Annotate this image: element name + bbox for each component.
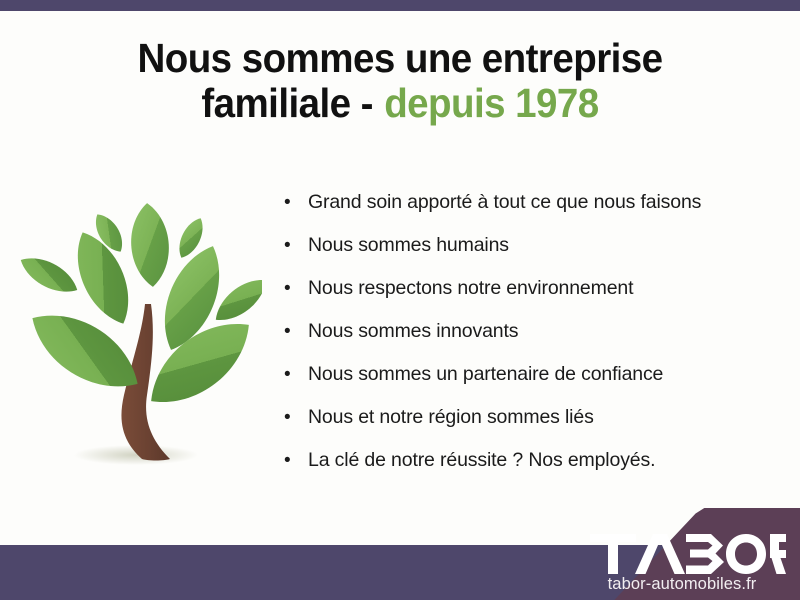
bullet-marker-icon: • [284,408,308,427]
bullet-marker-icon: • [284,322,308,341]
bullet-marker-icon: • [284,451,308,470]
list-item: • Nous sommes innovants [284,320,764,363]
list-item-label: Nous et notre région sommes liés [308,406,594,429]
headline-line-2: familiale -depuis 1978 [24,81,776,126]
bullet-marker-icon: • [284,365,308,384]
brand-url[interactable]: tabor-automobiles.fr [580,575,786,594]
tree-svg [14,183,262,483]
list-item: • Nous et notre région sommes liés [284,406,764,449]
list-item: • Nous respectons notre environnement [284,277,764,320]
list-item-label: La clé de notre réussite ? Nos employés. [308,449,655,472]
list-item: • Nous sommes un partenaire de confiance [284,363,764,406]
page-title: Nous sommes une entreprise familiale -de… [24,36,776,126]
list-item: • Nous sommes humains [284,234,764,277]
list-item-label: Nous respectons notre environnement [308,277,633,300]
bullet-marker-icon: • [284,279,308,298]
headline-line-2-black: familiale - [201,80,373,126]
tree-illustration [14,183,262,483]
bullet-marker-icon: • [284,236,308,255]
list-item-label: Grand soin apporté à tout ce que nous fa… [308,191,701,214]
bullet-marker-icon: • [284,193,308,212]
list-item-label: Nous sommes innovants [308,320,518,343]
brand-logo[interactable]: tabor-automobiles.fr [580,534,786,594]
headline-line-2-accent: depuis 1978 [384,80,598,126]
list-item: • Grand soin apporté à tout ce que nous … [284,191,764,234]
tabor-wordmark-icon [590,534,786,574]
headline-line-1: Nous sommes une entreprise [24,36,776,81]
list-item-label: Nous sommes un partenaire de confiance [308,363,663,386]
top-brand-bar [0,0,800,11]
list-item-label: Nous sommes humains [308,234,509,257]
slide-canvas: Nous sommes une entreprise familiale -de… [0,0,800,600]
list-item: • La clé de notre réussite ? Nos employé… [284,449,764,492]
benefits-list: • Grand soin apporté à tout ce que nous … [284,191,764,492]
